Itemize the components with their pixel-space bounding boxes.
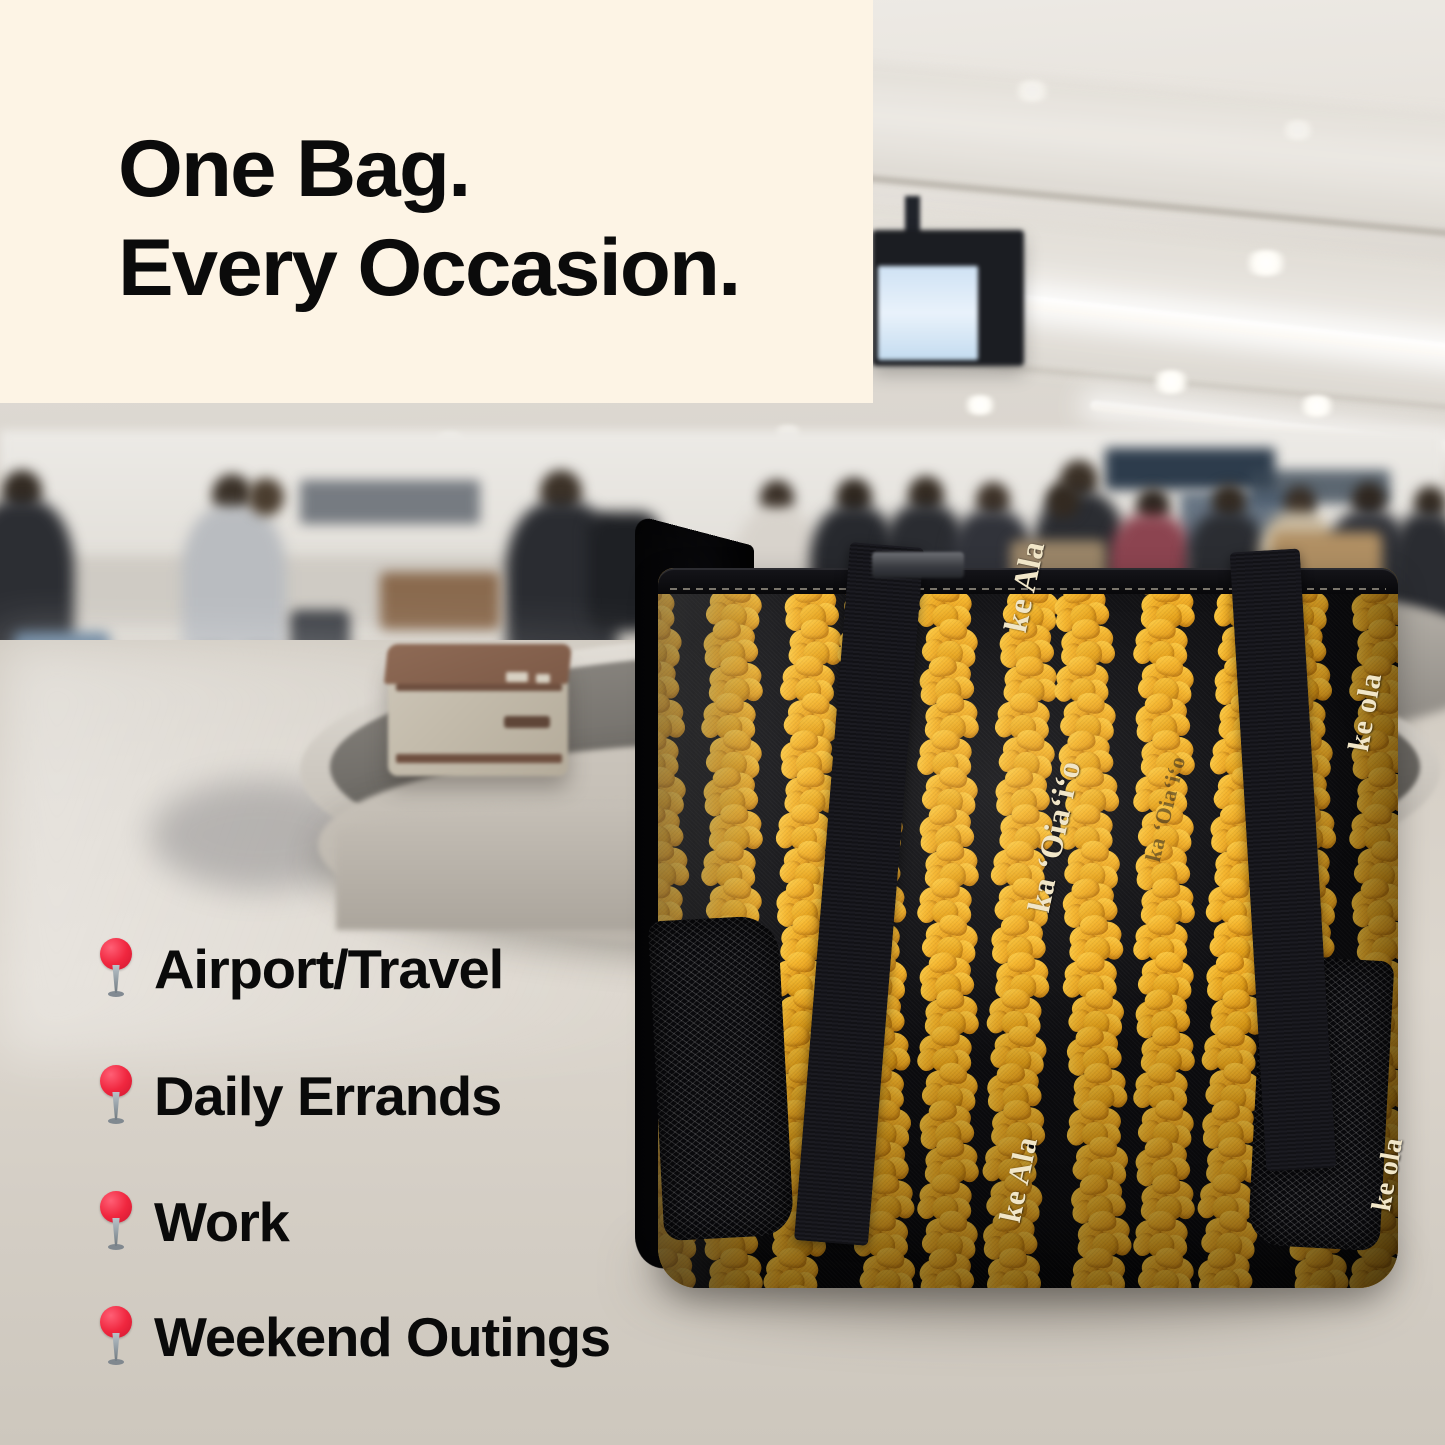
flower-petal [1084,1062,1113,1083]
flower-petal [715,692,745,715]
flower-petal [1152,730,1181,751]
zipper-pull [872,552,964,578]
flower-petal [1363,1247,1393,1270]
plumeria-flower [760,1245,826,1288]
flower-petal [936,1137,965,1158]
suitcase-latch [536,674,550,683]
recessed-light [1295,395,1339,417]
flower-petal [797,767,825,787]
luggage-on-belt [380,572,500,630]
flower-petal [936,693,965,714]
flower-petal [1147,1210,1177,1233]
lei-strand [979,568,1064,1288]
flower-petal [1079,914,1108,935]
flower-petal [871,1173,900,1194]
pushpin-tip [108,991,124,997]
flower-petal [931,877,961,900]
flower-petal [1080,1099,1109,1121]
plumeria-flower [1289,1245,1355,1288]
flower-petal [867,1210,896,1232]
flower-petal [1368,915,1397,936]
flower-petal [1363,803,1393,826]
use-case-label-daily-errands: Daily Errands [154,1069,501,1124]
headline-line-1: One Bag. [118,120,901,219]
traveler-head [248,478,284,516]
flower-petal [1301,1284,1330,1288]
pushpin-tip [108,1244,124,1250]
flower-petal [1222,989,1250,1009]
recessed-light [1240,250,1292,276]
flower-petal [931,1025,961,1048]
flower-petal [1152,1026,1181,1047]
flower-petal [1016,656,1044,676]
lei-strand [1134,568,1196,1288]
headline-line-2: Every Occasion. [118,219,901,318]
list-item: Daily Errands [96,1033,756,1159]
flower-petal [1152,1174,1181,1195]
flower-petal [1068,655,1097,677]
headline-panel: One Bag. Every Occasion. [0,0,873,403]
flower-petal [1218,1137,1246,1157]
round-pushpin-icon [96,938,136,1000]
traveler-head [1046,482,1080,518]
list-item: Airport/Travel [96,905,756,1033]
flower-petal [936,841,965,862]
recessed-light [1010,80,1054,102]
suitcase-latch [506,672,528,682]
use-case-label-work: Work [154,1195,289,1250]
list-item: Weekend Outings [96,1285,756,1389]
flower-petal [1007,952,1035,972]
suitcase-handle [504,716,550,728]
flower-petal [1076,951,1105,973]
page-title: One Bag. Every Occasion. [118,120,901,318]
flower-petal [1214,1285,1242,1288]
flower-petal [720,804,749,825]
suitcase-on-carousel [388,658,568,776]
pushpin-tip [108,1359,124,1365]
flower-petal [1088,1210,1117,1231]
suitcase-trim-strip [396,754,562,763]
recessed-light [1148,370,1194,394]
lei-strand [918,568,980,1288]
flower-petal [720,656,749,677]
plumeria-flower [1068,1247,1131,1288]
flower-petal [1147,618,1177,641]
suitcase-trim-strip [396,684,562,691]
round-pushpin-icon [96,1065,136,1127]
flower-petal [999,1248,1027,1268]
flower-petal [1147,914,1177,937]
flower-petal [1152,878,1181,899]
pushpin-tip [108,1118,124,1124]
flower-petal [792,915,820,935]
flower-petal [1075,766,1104,787]
flower-petal [1072,803,1101,825]
recessed-light [960,395,1000,415]
recessed-light [1278,120,1318,140]
flower-petal [1012,804,1040,824]
flower-petal [715,840,745,863]
flower-petal [1003,1100,1031,1120]
flower-petal [1305,1247,1334,1268]
flower-petal [1147,1062,1177,1085]
flower-petal [936,989,965,1010]
overhead-sign [300,480,480,524]
round-pushpin-icon [96,1191,136,1253]
flower-petal [931,729,961,752]
flower-petal [1084,1247,1113,1269]
flower-petal [1071,618,1100,639]
flower-petal [1368,767,1397,788]
use-case-label-airport-travel: Airport/Travel [154,942,503,997]
flower-petal [1368,619,1397,640]
flower-petal [1147,766,1177,789]
flower-petal [801,619,829,639]
flower-petal [936,1285,965,1288]
product-marketing-poster: ke Ala ka ʻOiaʻiʻo ke Ala ke ola ka ʻOia… [0,0,1445,1445]
lei-strand [1051,568,1136,1288]
use-case-label-weekend-outings: Weekend Outings [154,1310,610,1365]
list-item: Work [96,1159,756,1285]
flower-petal [1363,655,1393,678]
use-case-list: Airport/Travel Daily Errands Work [96,905,756,1389]
round-pushpin-icon [96,1306,136,1368]
flower-petal [931,1173,961,1196]
plumeria-flower [983,1247,1046,1288]
